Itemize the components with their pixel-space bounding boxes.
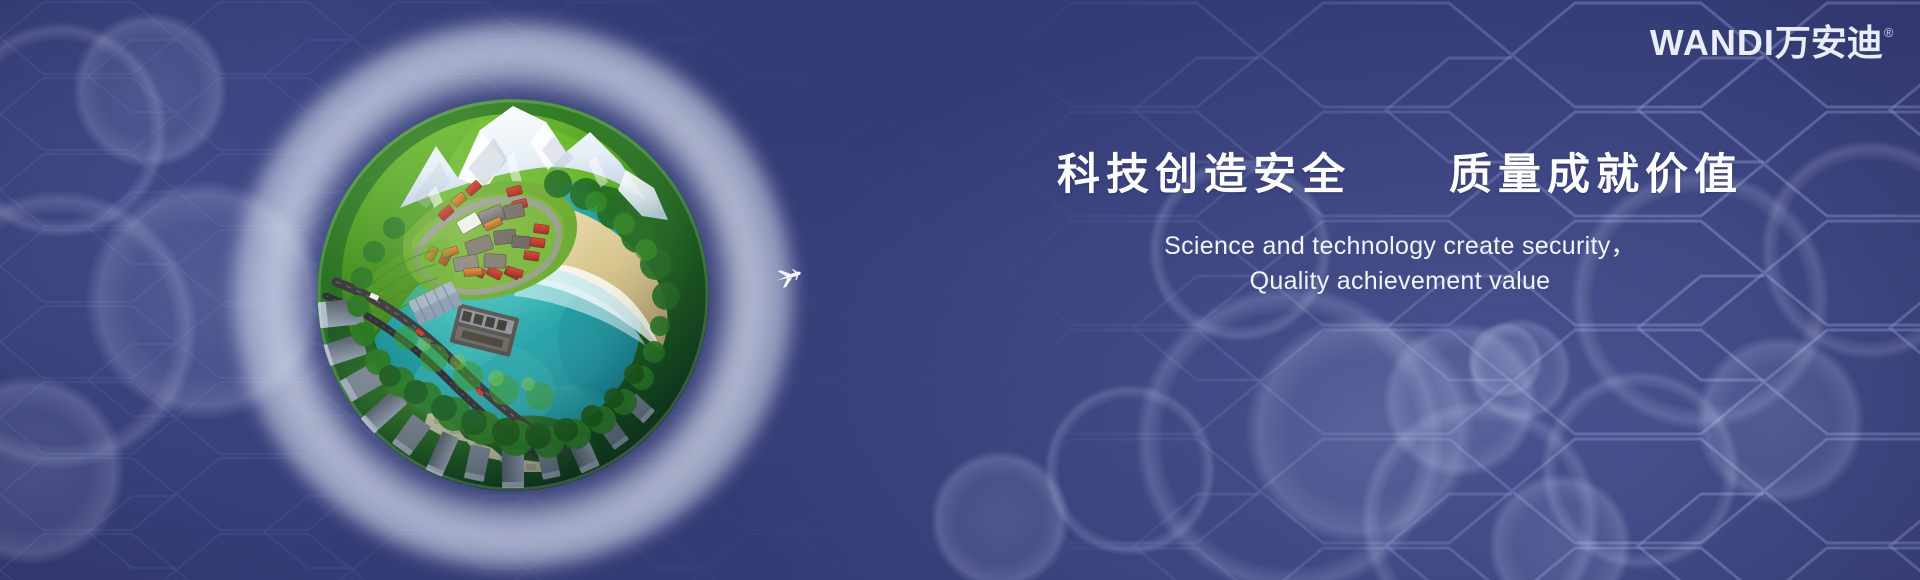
globe-image [308,90,718,500]
airplane-icon [774,266,804,288]
logo-latin-text: WANDI [1650,25,1775,61]
subtitle-line-2: Quality achievement value [960,264,1840,300]
subtitle-line-1: Science and technology create security， [960,229,1840,265]
registered-trademark-icon: ® [1884,26,1894,39]
subtitle-english: Science and technology create security， … [960,229,1840,300]
brand-logo[interactable]: WANDI 万安迪 ® [1650,25,1894,61]
hero-banner: WANDI 万安迪 ® 科技创造安全 质量成就价值 Science and te… [0,0,1920,580]
headline-chinese: 科技创造安全 质量成就价值 [960,150,1840,201]
tiny-planet-globe [213,0,813,580]
logo-chinese-text: 万安迪 [1775,25,1883,61]
banner-copy: 科技创造安全 质量成就价值 Science and technology cre… [960,150,1840,300]
